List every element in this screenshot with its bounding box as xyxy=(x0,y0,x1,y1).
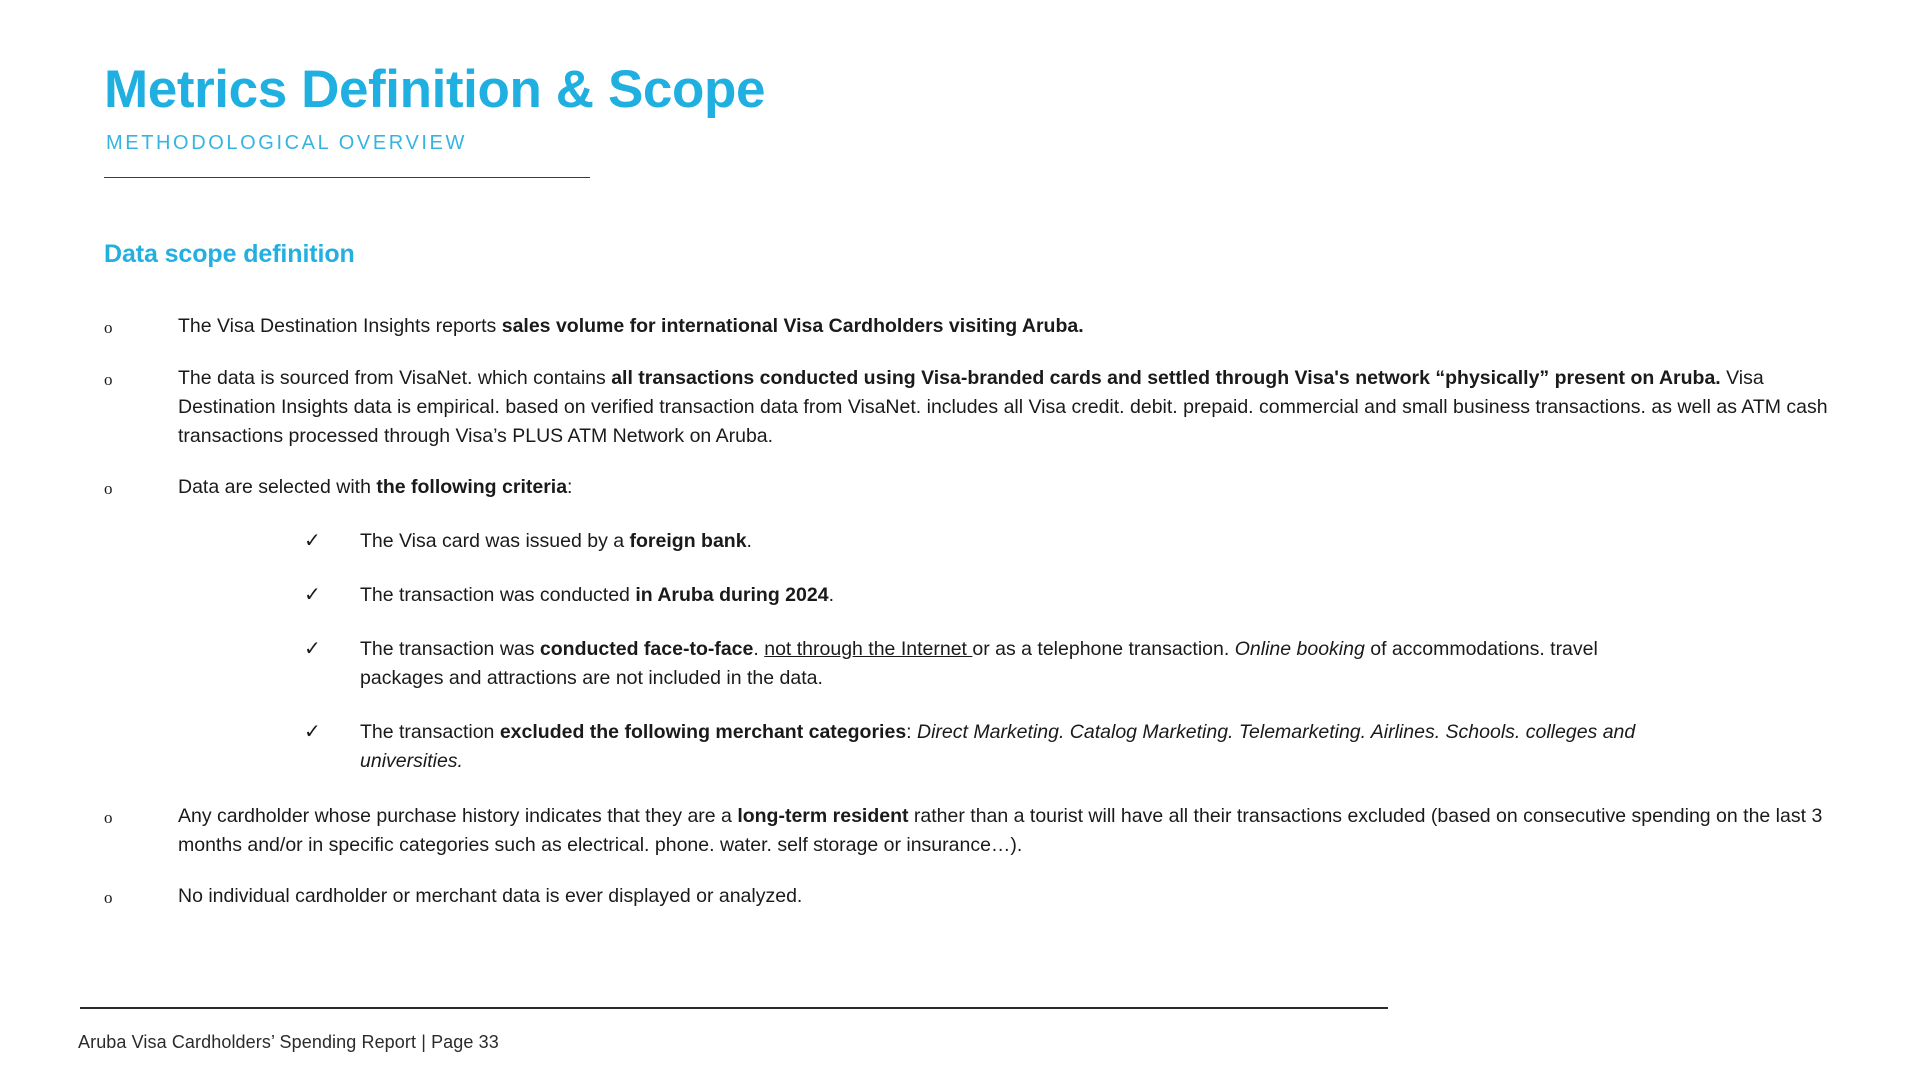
bullet-text: The data is sourced from VisaNet. which … xyxy=(178,364,1844,451)
slide-canvas: Metrics Definition & Scope METHODOLOGICA… xyxy=(0,0,1920,1080)
checkmark-icon: ✓ xyxy=(304,581,360,610)
criteria-text: The transaction was conducted face-to-fa… xyxy=(360,635,1660,693)
criteria-text: The Visa card was issued by a foreign ba… xyxy=(360,527,1660,556)
checkmark-icon: ✓ xyxy=(304,635,360,664)
bullet-text: Any cardholder whose purchase history in… xyxy=(178,802,1844,860)
bullet-marker-circle: o xyxy=(104,882,178,912)
page-title: Metrics Definition & Scope xyxy=(104,62,1804,118)
bullet-text: Data are selected with the following cri… xyxy=(178,473,1844,502)
criteria-text: The transaction was conducted in Aruba d… xyxy=(360,581,1660,610)
bullet-marker-circle: o xyxy=(104,364,178,394)
content-body: o The Visa Destination Insights reports … xyxy=(104,312,1844,912)
footer-caption: Aruba Visa Cardholders’ Spending Report … xyxy=(78,1032,499,1053)
bullet-marker-circle: o xyxy=(104,802,178,832)
page-subtitle: METHODOLOGICAL OVERVIEW xyxy=(106,132,1804,155)
criteria-item: ✓ The transaction was conducted face-to-… xyxy=(104,635,1844,693)
list-item: o No individual cardholder or merchant d… xyxy=(104,882,1844,912)
section-heading: Data scope definition xyxy=(104,240,355,269)
criteria-item: ✓ The Visa card was issued by a foreign … xyxy=(104,527,1844,556)
bullet-text: No individual cardholder or merchant dat… xyxy=(178,882,1844,911)
bullet-marker-circle: o xyxy=(104,312,178,342)
bullet-marker-circle: o xyxy=(104,473,178,503)
criteria-item: ✓ The transaction was conducted in Aruba… xyxy=(104,581,1844,610)
footer-divider xyxy=(80,1007,1388,1009)
criteria-sublist: ✓ The Visa card was issued by a foreign … xyxy=(104,527,1844,776)
list-item: o Any cardholder whose purchase history … xyxy=(104,802,1844,860)
checkmark-icon: ✓ xyxy=(304,718,360,747)
criteria-text: The transaction excluded the following m… xyxy=(360,718,1660,776)
criteria-item: ✓ The transaction excluded the following… xyxy=(104,718,1844,776)
list-item: o The Visa Destination Insights reports … xyxy=(104,312,1844,342)
header-divider xyxy=(104,177,590,178)
slide-header: Metrics Definition & Scope METHODOLOGICA… xyxy=(104,62,1804,178)
checkmark-icon: ✓ xyxy=(304,527,360,556)
list-item: o Data are selected with the following c… xyxy=(104,473,1844,503)
bullet-text: The Visa Destination Insights reports sa… xyxy=(178,312,1844,341)
list-item: o The data is sourced from VisaNet. whic… xyxy=(104,364,1844,451)
